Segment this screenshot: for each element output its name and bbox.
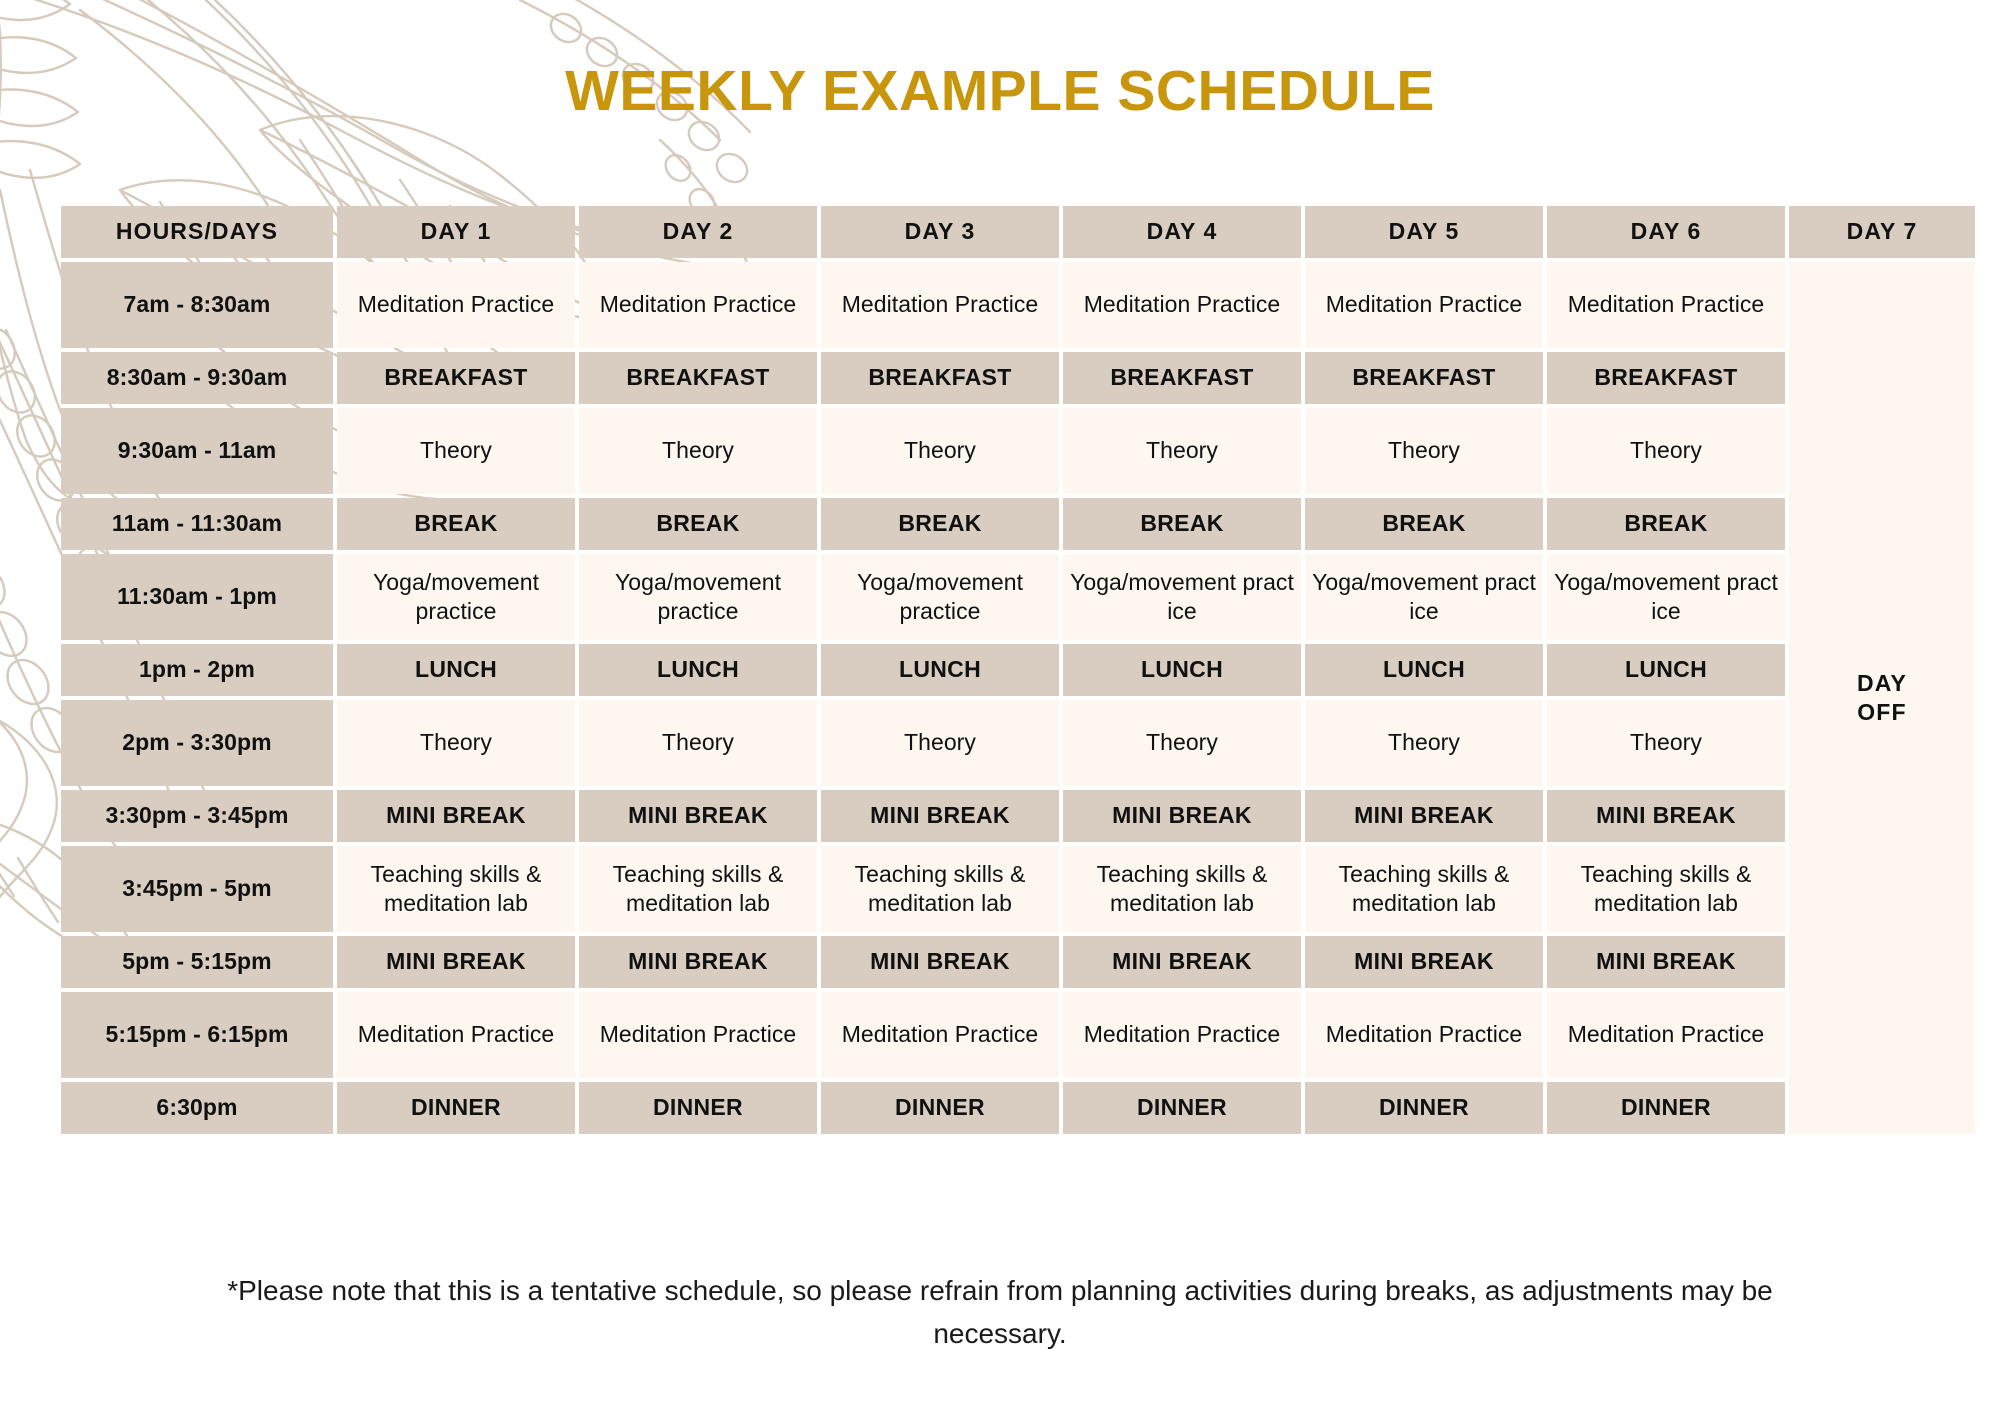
day-off-line-2: OFF	[1795, 698, 1969, 727]
schedule-cell-day-1: BREAK	[337, 498, 575, 550]
schedule-cell-day-4: Theory	[1063, 700, 1301, 786]
time-slot-cell: 2pm - 3:30pm	[61, 700, 333, 786]
schedule-cell-day-6: LUNCH	[1547, 644, 1785, 696]
schedule-cell-day-2: DINNER	[579, 1082, 817, 1134]
schedule-cell-day-2: Meditation Practice	[579, 262, 817, 348]
schedule-cell-day-3: Meditation Practice	[821, 992, 1059, 1078]
column-header-day-4: DAY 4	[1063, 206, 1301, 258]
column-header-day-6: DAY 6	[1547, 206, 1785, 258]
schedule-cell-day-4: LUNCH	[1063, 644, 1301, 696]
time-slot-cell: 5:15pm - 6:15pm	[61, 992, 333, 1078]
schedule-cell-day-1: Theory	[337, 408, 575, 494]
weekly-schedule-table: HOURS/DAYS DAY 1 DAY 2 DAY 3 DAY 4 DAY 5…	[57, 202, 1979, 1138]
schedule-cell-day-4: MINI BREAK	[1063, 790, 1301, 842]
table-head: HOURS/DAYS DAY 1 DAY 2 DAY 3 DAY 4 DAY 5…	[61, 206, 1975, 258]
table-row: 8:30am - 9:30amBREAKFASTBREAKFASTBREAKFA…	[61, 352, 1975, 404]
day-off-line-1: DAY	[1795, 669, 1969, 698]
time-slot-cell: 11:30am - 1pm	[61, 554, 333, 640]
schedule-cell-day-4: Theory	[1063, 408, 1301, 494]
table-body: 7am - 8:30amMeditation PracticeMeditatio…	[61, 262, 1975, 1134]
schedule-cell-day-3: BREAK	[821, 498, 1059, 550]
table-row: 5:15pm - 6:15pmMeditation PracticeMedita…	[61, 992, 1975, 1078]
schedule-cell-day-2: MINI BREAK	[579, 790, 817, 842]
schedule-cell-day-4: MINI BREAK	[1063, 936, 1301, 988]
schedule-cell-day-3: Theory	[821, 700, 1059, 786]
schedule-cell-day-4: BREAKFAST	[1063, 352, 1301, 404]
schedule-cell-day-5: LUNCH	[1305, 644, 1543, 696]
column-header-day-7: DAY 7	[1789, 206, 1975, 258]
schedule-cell-day-2: BREAK	[579, 498, 817, 550]
schedule-cell-day-4: BREAK	[1063, 498, 1301, 550]
time-slot-cell: 6:30pm	[61, 1082, 333, 1134]
schedule-cell-day-2: Theory	[579, 408, 817, 494]
schedule-cell-day-5: MINI BREAK	[1305, 790, 1543, 842]
table-row: 2pm - 3:30pmTheoryTheoryTheoryTheoryTheo…	[61, 700, 1975, 786]
schedule-cell-day-3: LUNCH	[821, 644, 1059, 696]
schedule-cell-day-6: MINI BREAK	[1547, 790, 1785, 842]
schedule-cell-day-4: Teaching skills & meditation lab	[1063, 846, 1301, 932]
schedule-cell-day-3: MINI BREAK	[821, 936, 1059, 988]
schedule-cell-day-3: Meditation Practice	[821, 262, 1059, 348]
schedule-cell-day-1: BREAKFAST	[337, 352, 575, 404]
table-row: 11:30am - 1pmYoga/movement practiceYoga/…	[61, 554, 1975, 640]
schedule-cell-day-6: MINI BREAK	[1547, 936, 1785, 988]
schedule-cell-day-1: Meditation Practice	[337, 992, 575, 1078]
schedule-cell-day-6: Theory	[1547, 700, 1785, 786]
table-row: 6:30pmDINNERDINNERDINNERDINNERDINNERDINN…	[61, 1082, 1975, 1134]
schedule-cell-day-3: Theory	[821, 408, 1059, 494]
schedule-cell-day-5: BREAKFAST	[1305, 352, 1543, 404]
header-row: HOURS/DAYS DAY 1 DAY 2 DAY 3 DAY 4 DAY 5…	[61, 206, 1975, 258]
schedule-cell-day-5: Meditation Practice	[1305, 992, 1543, 1078]
schedule-cell-day-3: Teaching skills & meditation lab	[821, 846, 1059, 932]
time-slot-cell: 3:30pm - 3:45pm	[61, 790, 333, 842]
schedule-cell-day-1: Teaching skills & meditation lab	[337, 846, 575, 932]
schedule-cell-day-6: Teaching skills & meditation lab	[1547, 846, 1785, 932]
schedule-cell-day-2: BREAKFAST	[579, 352, 817, 404]
time-slot-cell: 11am - 11:30am	[61, 498, 333, 550]
time-slot-cell: 7am - 8:30am	[61, 262, 333, 348]
schedule-cell-day-6: Meditation Practice	[1547, 262, 1785, 348]
schedule-cell-day-5: DINNER	[1305, 1082, 1543, 1134]
schedule-cell-day-1: MINI BREAK	[337, 790, 575, 842]
schedule-cell-day-6: DINNER	[1547, 1082, 1785, 1134]
schedule-cell-day-5: BREAK	[1305, 498, 1543, 550]
schedule-cell-day-1: Meditation Practice	[337, 262, 575, 348]
schedule-cell-day-2: Yoga/movement practice	[579, 554, 817, 640]
schedule-cell-day-5: Yoga/movement practice	[1305, 554, 1543, 640]
schedule-page: WEEKLY EXAMPLE SCHEDULE HOURS/DAYS DAY 1…	[0, 0, 2000, 1414]
schedule-cell-day-6: Theory	[1547, 408, 1785, 494]
schedule-cell-day-2: MINI BREAK	[579, 936, 817, 988]
column-header-day-2: DAY 2	[579, 206, 817, 258]
schedule-cell-day-2: LUNCH	[579, 644, 817, 696]
schedule-cell-day-3: MINI BREAK	[821, 790, 1059, 842]
time-slot-cell: 1pm - 2pm	[61, 644, 333, 696]
table-row: 3:45pm - 5pmTeaching skills & meditation…	[61, 846, 1975, 932]
column-header-day-1: DAY 1	[337, 206, 575, 258]
schedule-cell-day-5: Meditation Practice	[1305, 262, 1543, 348]
table-row: 1pm - 2pmLUNCHLUNCHLUNCHLUNCHLUNCHLUNCH	[61, 644, 1975, 696]
day-off-cell: DAYOFF	[1789, 262, 1975, 1134]
column-header-hours: HOURS/DAYS	[61, 206, 333, 258]
schedule-cell-day-6: BREAK	[1547, 498, 1785, 550]
time-slot-cell: 3:45pm - 5pm	[61, 846, 333, 932]
schedule-cell-day-1: Theory	[337, 700, 575, 786]
schedule-table-container: HOURS/DAYS DAY 1 DAY 2 DAY 3 DAY 4 DAY 5…	[57, 202, 1947, 1138]
schedule-cell-day-5: Teaching skills & meditation lab	[1305, 846, 1543, 932]
time-slot-cell: 8:30am - 9:30am	[61, 352, 333, 404]
schedule-cell-day-1: Yoga/movement practice	[337, 554, 575, 640]
schedule-cell-day-4: Meditation Practice	[1063, 992, 1301, 1078]
schedule-cell-day-1: MINI BREAK	[337, 936, 575, 988]
column-header-day-5: DAY 5	[1305, 206, 1543, 258]
column-header-day-3: DAY 3	[821, 206, 1059, 258]
time-slot-cell: 9:30am - 11am	[61, 408, 333, 494]
schedule-cell-day-3: DINNER	[821, 1082, 1059, 1134]
schedule-cell-day-6: Yoga/movement practice	[1547, 554, 1785, 640]
table-row: 11am - 11:30amBREAKBREAKBREAKBREAKBREAKB…	[61, 498, 1975, 550]
schedule-cell-day-4: Yoga/movement practice	[1063, 554, 1301, 640]
time-slot-cell: 5pm - 5:15pm	[61, 936, 333, 988]
table-row: 7am - 8:30amMeditation PracticeMeditatio…	[61, 262, 1975, 348]
table-row: 3:30pm - 3:45pmMINI BREAKMINI BREAKMINI …	[61, 790, 1975, 842]
schedule-cell-day-5: Theory	[1305, 700, 1543, 786]
schedule-cell-day-4: Meditation Practice	[1063, 262, 1301, 348]
schedule-cell-day-6: BREAKFAST	[1547, 352, 1785, 404]
schedule-cell-day-2: Meditation Practice	[579, 992, 817, 1078]
schedule-footnote: *Please note that this is a tentative sc…	[190, 1270, 1810, 1355]
schedule-cell-day-5: MINI BREAK	[1305, 936, 1543, 988]
table-row: 5pm - 5:15pmMINI BREAKMINI BREAKMINI BRE…	[61, 936, 1975, 988]
schedule-cell-day-2: Theory	[579, 700, 817, 786]
page-title: WEEKLY EXAMPLE SCHEDULE	[0, 58, 2000, 124]
schedule-cell-day-4: DINNER	[1063, 1082, 1301, 1134]
schedule-cell-day-3: BREAKFAST	[821, 352, 1059, 404]
schedule-cell-day-2: Teaching skills & meditation lab	[579, 846, 817, 932]
schedule-cell-day-1: DINNER	[337, 1082, 575, 1134]
schedule-cell-day-6: Meditation Practice	[1547, 992, 1785, 1078]
table-row: 9:30am - 11amTheoryTheoryTheoryTheoryThe…	[61, 408, 1975, 494]
schedule-cell-day-1: LUNCH	[337, 644, 575, 696]
schedule-cell-day-3: Yoga/movement practice	[821, 554, 1059, 640]
schedule-cell-day-5: Theory	[1305, 408, 1543, 494]
